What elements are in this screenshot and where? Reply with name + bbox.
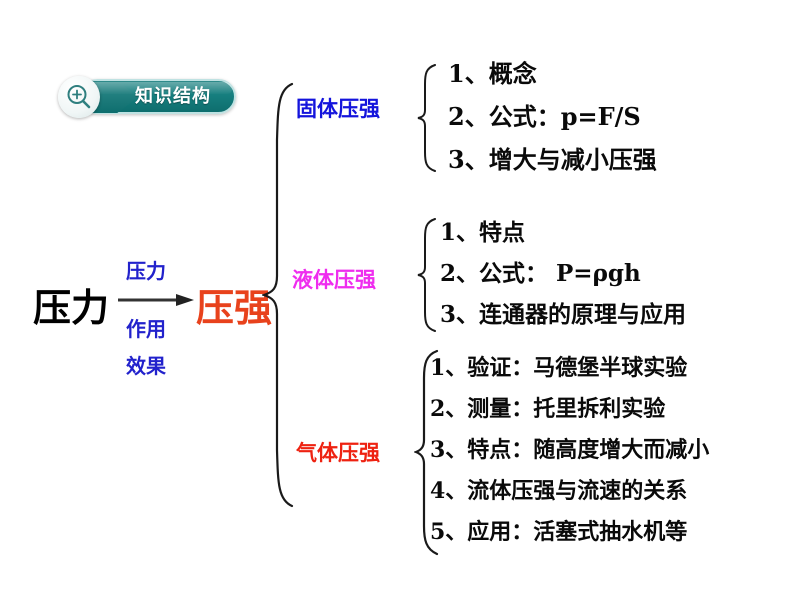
branch-label-solid-pressure: 固体压强 xyxy=(296,93,380,123)
knowledge-structure-badge: 知识结构 xyxy=(58,76,238,118)
magnifier-plus-icon xyxy=(58,76,100,118)
list-item: 1、特点 xyxy=(440,212,686,253)
branch-label-liquid-pressure: 液体压强 xyxy=(292,264,376,294)
list-item: 1、概念 xyxy=(448,52,657,95)
list-item: 3、特点：随高度增大而减小 xyxy=(430,430,709,471)
main-brace xyxy=(262,80,296,510)
edge-label-top: 压力 xyxy=(126,255,166,284)
list-item: 3、增大与减小压强 xyxy=(448,138,657,181)
list-item: 2、公式：p=F/S xyxy=(448,95,657,138)
result-term-pressure: 压强 xyxy=(196,277,272,332)
list-item: 4、流体压强与流速的关系 xyxy=(430,471,709,512)
badge-icon-circle xyxy=(58,76,100,118)
list-item: 1、验证：马德堡半球实验 xyxy=(430,348,709,389)
list-item: 3、连通器的原理与应用 xyxy=(440,294,686,335)
item-list-liquid-pressure: 1、特点 2、公式： P=ρgh 3、连通器的原理与应用 xyxy=(440,212,686,335)
edge-label-bottom: 效果 xyxy=(126,350,166,379)
badge-label: 知识结构 xyxy=(114,80,232,113)
list-item: 5、应用：活塞式抽水机等 xyxy=(430,512,709,553)
brace-liquid-pressure xyxy=(416,216,438,334)
branch-label-gas-pressure: 气体压强 xyxy=(296,437,380,467)
edge-label-middle: 作用 xyxy=(126,313,166,342)
brace-solid-pressure xyxy=(416,62,438,174)
item-list-gas-pressure: 1、验证：马德堡半球实验 2、测量：托里拆利实验 3、特点：随高度增大而减小 4… xyxy=(430,348,709,553)
root-term-pressure-force: 压力 xyxy=(33,277,109,332)
item-list-solid-pressure: 1、概念 2、公式：p=F/S 3、增大与减小压强 xyxy=(448,52,657,181)
list-item: 2、公式： P=ρgh xyxy=(440,253,686,294)
list-item: 2、测量：托里拆利实验 xyxy=(430,389,709,430)
root-arrow xyxy=(118,292,194,308)
